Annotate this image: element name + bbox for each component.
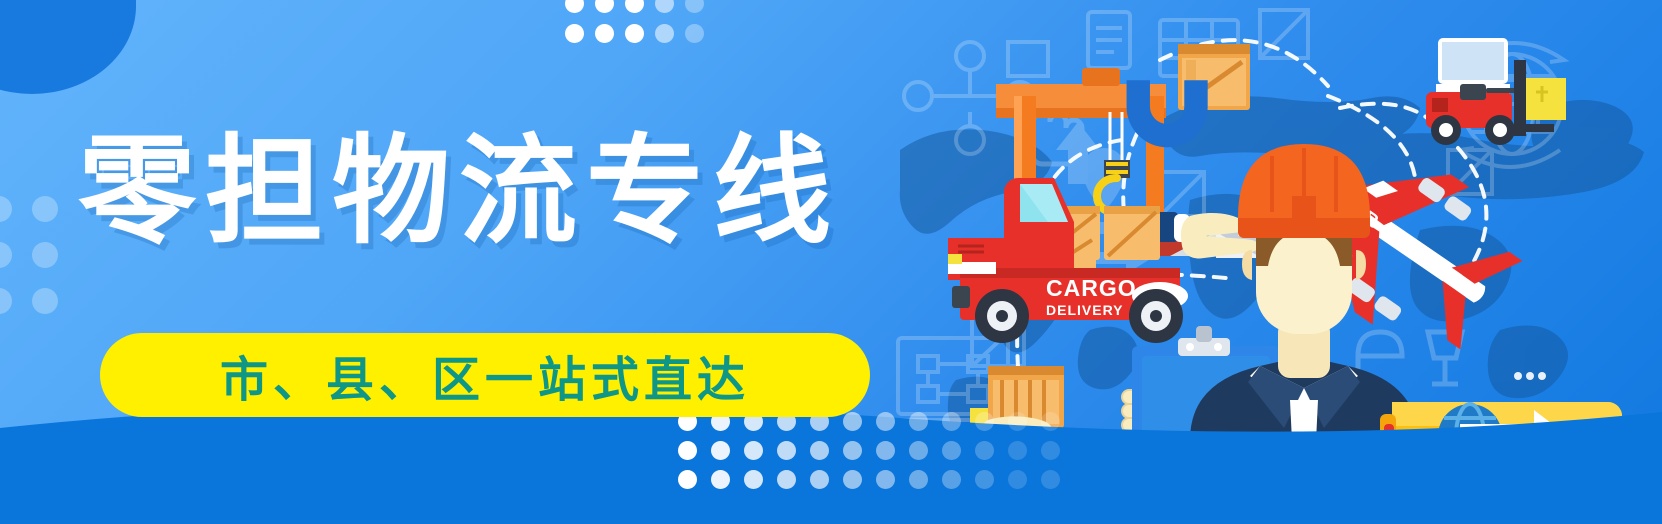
checklist-watermark [1088,12,1130,68]
loading-dots-2 [1514,372,1546,380]
subtitle-pill: 市、县、区一站式直达 [100,333,870,417]
dot-grid-top [565,0,715,54]
forklift [1426,38,1566,145]
page-title: 零担物流专线 [78,128,840,255]
logistics-banner: AIR FREIGHT [0,0,1662,524]
dot-grid-bottom [678,412,1074,499]
subtitle-pill-label: 市、县、区一站式直达 [220,340,750,410]
truck-label-primary: CARGO [1046,275,1137,301]
dot-grid-left [0,196,78,334]
truck-label-secondary: DELIVERY [1046,302,1124,318]
corner-blob-decor [0,0,136,94]
box-diagonal-watermark [1260,10,1308,58]
